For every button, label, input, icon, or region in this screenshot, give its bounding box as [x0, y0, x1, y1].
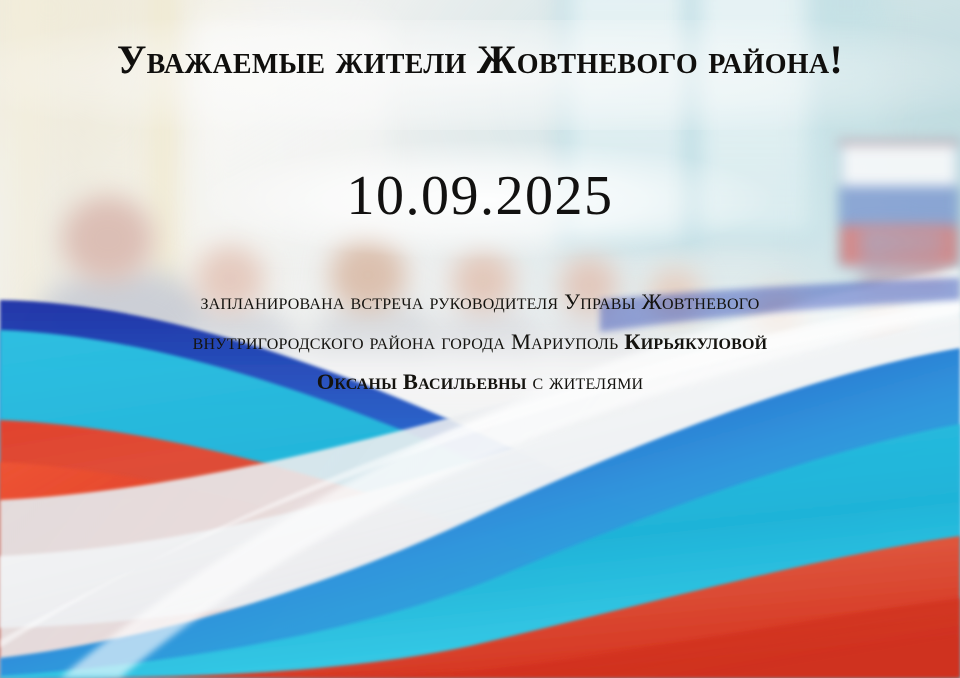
announcement-suffix: с жителями [527, 369, 644, 394]
announcement-text: запланирована встреча руководителя Управ… [150, 282, 810, 402]
page-title: Уважаемые жители Жовтневого района! [0, 40, 960, 80]
event-date: 10.09.2025 [0, 168, 960, 224]
poster-canvas: Уважаемые жители Жовтневого района! 10.0… [0, 0, 960, 678]
